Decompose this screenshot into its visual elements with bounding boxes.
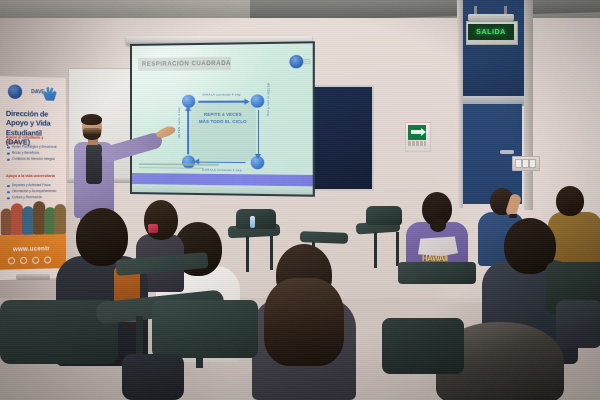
- student-head: [76, 208, 128, 266]
- chair-back: [382, 318, 464, 374]
- door-jamb: [524, 0, 533, 210]
- bullet-label: Cuidados de Atención Integral: [12, 158, 55, 162]
- slide-title-bar: RESPIRACIÓN CUADRADA: [138, 57, 231, 71]
- classroom-presentation-photo: SALIDA RESPIRACIÓN CUADRADA: [0, 0, 600, 400]
- presenter-hair: [81, 114, 102, 125]
- bullet-dot-icon: [7, 146, 10, 149]
- slide-title: RESPIRACIÓN CUADRADA: [142, 60, 231, 67]
- exit-arrow-icon: [411, 130, 422, 134]
- slide-logo-wordmark: [303, 59, 310, 64]
- diagram-label-right: RETÉN el aire 4 seg: [266, 83, 270, 116]
- hand-icon: [43, 86, 57, 100]
- presenter-inner-shirt: [86, 144, 102, 184]
- chair-leg: [396, 232, 399, 266]
- light-switch-3[interactable]: [529, 159, 536, 168]
- student-hair: [264, 278, 344, 366]
- door-handle[interactable]: [500, 150, 514, 154]
- list-item: Cuidados de Atención Integral: [7, 158, 59, 162]
- bullet-label: Apoyo Psicológico y Emocional: [12, 145, 56, 149]
- water-bottle: [250, 216, 255, 228]
- light-switch-2[interactable]: [522, 159, 529, 168]
- list-item: Apoyo Psicológico y Emocional: [7, 145, 59, 149]
- hair-clip: [148, 224, 158, 233]
- presenter-arm: [100, 131, 164, 163]
- chair-back: [398, 262, 476, 284]
- diagram-label-top: INHALA contando 4 seg: [202, 92, 240, 96]
- ucen-logo-icon: [289, 55, 303, 69]
- illuminated-exit-sign-label: SALIDA: [476, 29, 506, 36]
- door-frame-left: [457, 0, 463, 208]
- student-hair-bun: [430, 218, 446, 232]
- chair-back: [236, 209, 276, 229]
- diagram-center-text: REPITE 4 VECES MÁS TODO EL CICLO: [198, 112, 247, 125]
- backpack: [122, 354, 184, 400]
- illuminated-exit-sign-face: SALIDA: [468, 24, 514, 40]
- diagram-arrow-left: [187, 110, 189, 155]
- chair-back: [152, 300, 258, 358]
- diagram-inner-panel: [190, 102, 256, 161]
- square-breathing-diagram: INHALA contando 4 seg EXHALA contando 4 …: [174, 87, 273, 175]
- banner-photo-students: [0, 186, 66, 235]
- instagram-icon[interactable]: [20, 257, 27, 264]
- presenter-beard: [83, 128, 101, 140]
- banner-url[interactable]: www.ucentr: [13, 246, 50, 253]
- backpack: [556, 300, 600, 348]
- student-head: [556, 186, 584, 216]
- banner-subtitle-2: Apoyo a la vida universitaria: [6, 174, 60, 179]
- chair-leg: [246, 236, 249, 272]
- youtube-icon[interactable]: [44, 256, 51, 263]
- banner-base-stand: [16, 274, 50, 280]
- dave-hand-logo-icon: DAVE: [31, 87, 57, 100]
- chair-back: [366, 206, 402, 225]
- light-switch-1[interactable]: [515, 159, 522, 168]
- facebook-icon[interactable]: [8, 257, 15, 264]
- banner-bullet-group-1: Apoyo Psicológico y Emocional Becas y Be…: [7, 145, 59, 164]
- banner-social-icons: [8, 256, 51, 264]
- tablet-arm-desk: [300, 231, 348, 244]
- bullet-label: Becas y Beneficios: [12, 152, 39, 156]
- bullet-dot-icon: [7, 152, 10, 155]
- ucen-circle-logo-icon: [8, 84, 22, 99]
- blue-door[interactable]: [462, 104, 522, 204]
- student-head: [144, 200, 178, 240]
- bullet-dot-icon: [7, 158, 10, 161]
- chair-leg: [374, 232, 377, 268]
- photo-figure: [54, 204, 66, 234]
- navy-wall-board: [306, 85, 374, 191]
- diagram-arrow-bottom: [198, 161, 245, 163]
- sign-mount: [468, 14, 514, 21]
- rollup-banner: DAVE Dirección de Apoyo y Vida Estudiant…: [0, 76, 67, 280]
- wristwatch: [509, 214, 517, 218]
- twitter-icon[interactable]: [32, 257, 39, 264]
- diagram-arrow-top: [198, 101, 245, 103]
- exit-sign-caption: [408, 141, 426, 146]
- chair-leg: [270, 236, 273, 270]
- diagram-arrow-right: [257, 110, 259, 155]
- dave-logo-text: DAVE: [31, 89, 45, 95]
- diagram-node-top-right: [251, 94, 265, 107]
- list-item: Becas y Beneficios: [7, 152, 59, 156]
